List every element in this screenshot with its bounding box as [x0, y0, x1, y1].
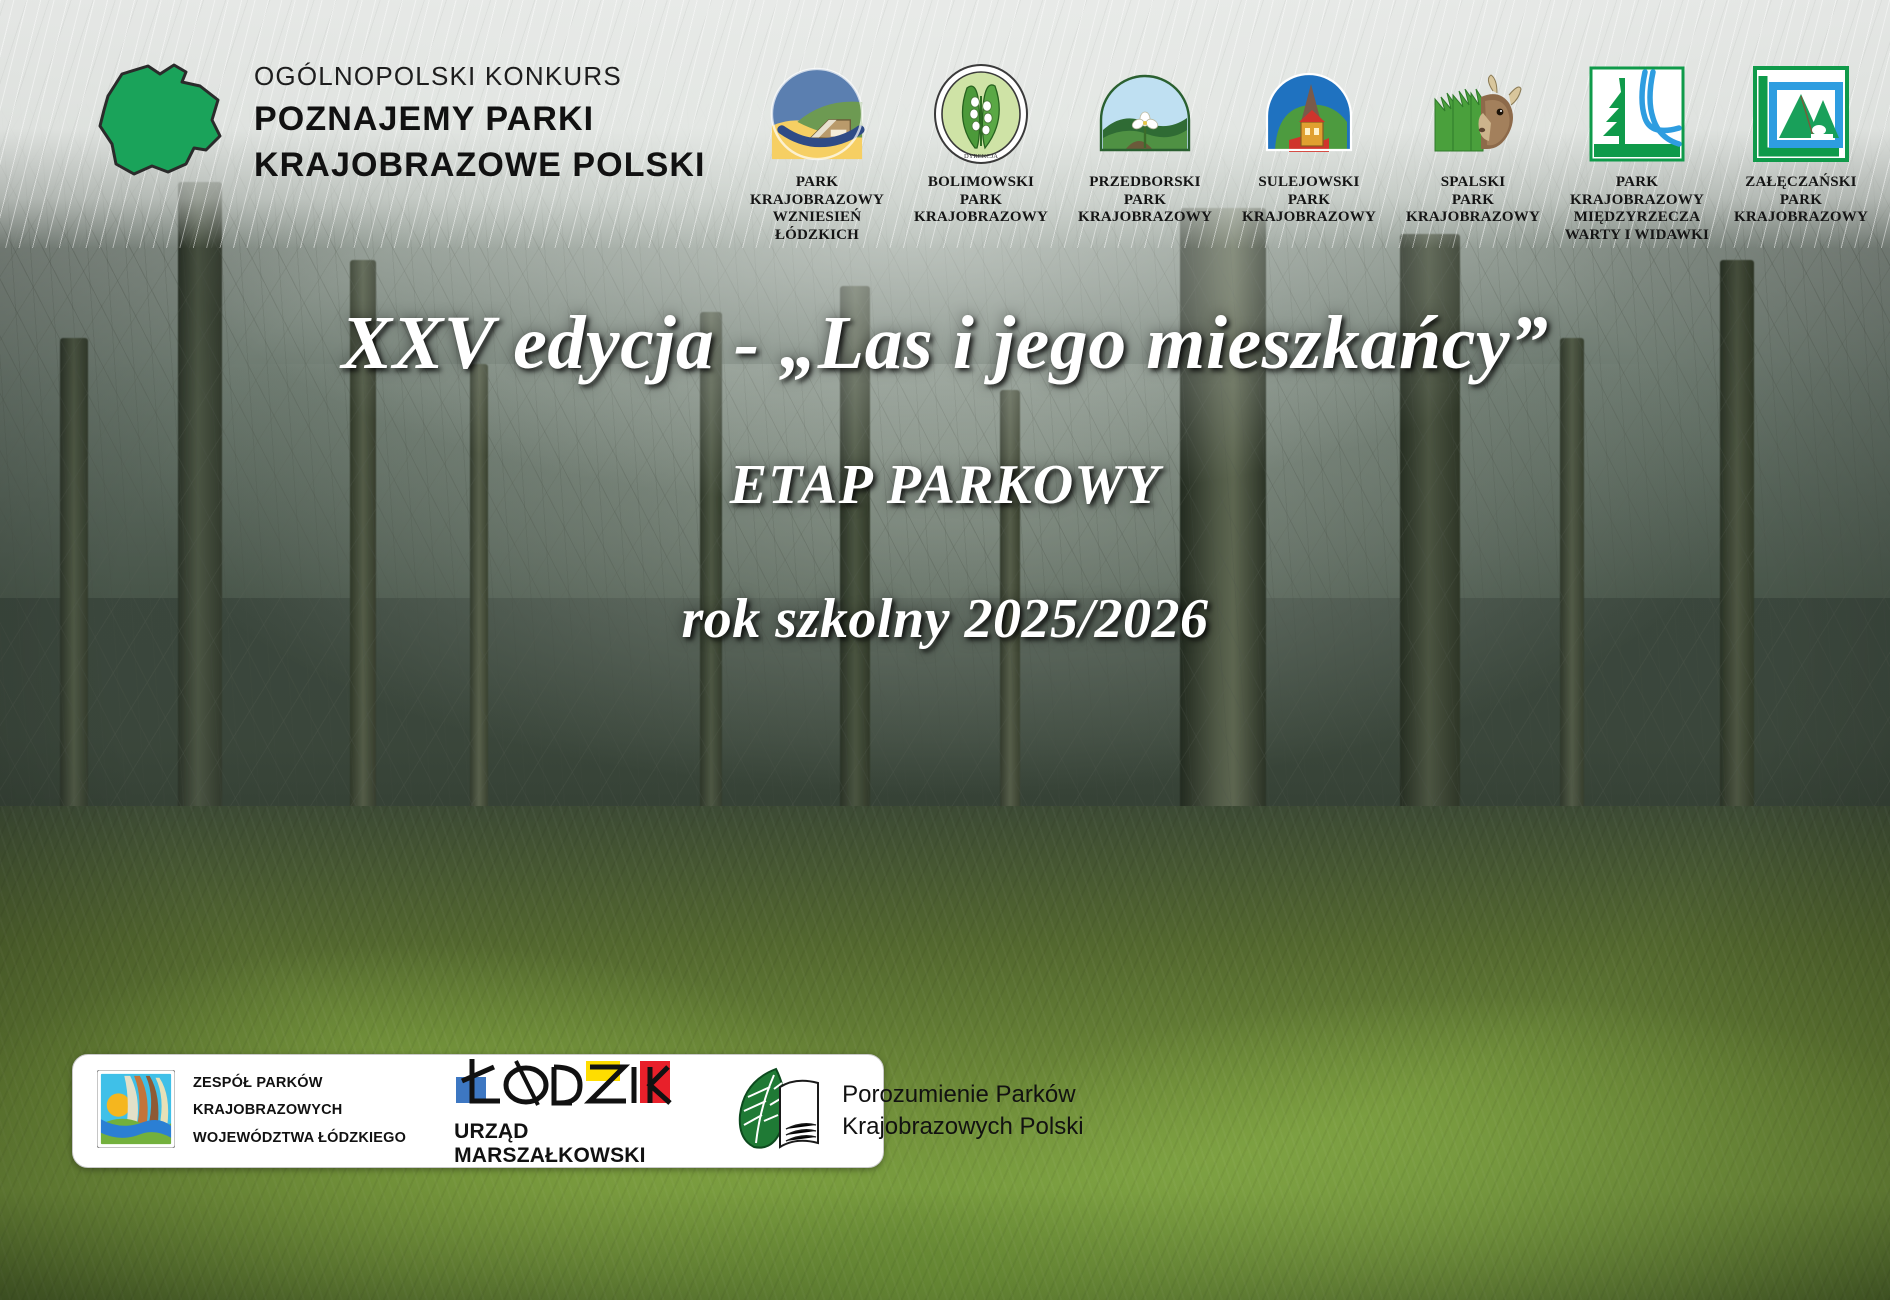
hills-in-frame-square-logo — [1753, 60, 1849, 168]
ppk-line-1: Porozumienie Parków — [842, 1079, 1083, 1111]
lily-of-the-valley-seal-logo: DYREKCJA — [931, 60, 1031, 168]
bison-and-firs-logo — [1421, 60, 1525, 168]
title-block: XXV edycja - „Las i jego mieszkańcy” ETA… — [0, 300, 1890, 651]
sponsor-logo-bar: ZESPÓŁ PARKÓW KRAJOBRAZOWYCH WOJEWÓDZTWA… — [72, 1054, 884, 1168]
ppk-text: Porozumienie Parków Krajobrazowych Polsk… — [842, 1079, 1083, 1142]
zpk-line-3: WOJEWÓDZTWA ŁÓDZKIEGO — [193, 1125, 406, 1153]
fir-and-rivers-square-logo — [1589, 60, 1685, 168]
contest-brand: OGÓLNOPOLSKI KONKURS POZNAJEMY PARKI KRA… — [82, 52, 706, 193]
ppk-logo-group: Porozumienie Parków Krajobrazowych Polsk… — [730, 1055, 1083, 1167]
leaf-and-book-logo — [730, 1063, 826, 1160]
park-logo-miedzyrzecza-warty-i-widawki: PARK KRAJOBRAZOWY MIĘDZYRZECZA WARTY I W… — [1555, 60, 1719, 245]
lodzkie-subtitle: URZĄD MARSZAŁKOWSKI — [454, 1120, 686, 1168]
school-year-title: rok szkolny 2025/2026 — [0, 587, 1890, 651]
brand-line-1: OGÓLNOPOLSKI KONKURS — [254, 63, 706, 89]
park-logo-sulejowski: SULEJOWSKI PARK KRAJOBRAZOWY — [1227, 60, 1391, 245]
park-logo-wzniesien-lodzkich: PARK KRAJOBRAZOWY WZNIESIEŃ ŁÓDZKICH — [735, 60, 899, 245]
church-tower-dome-logo — [1259, 60, 1359, 168]
park-caption: BOLIMOWSKI PARK KRAJOBRAZOWY — [914, 174, 1048, 227]
park-logo-spalski: SPALSKI PARK KRAJOBRAZOWY — [1391, 60, 1555, 245]
zpk-logo-group: ZESPÓŁ PARKÓW KRAJOBRAZOWYCH WOJEWÓDZTWA… — [97, 1055, 406, 1167]
header-band: OGÓLNOPOLSKI KONKURS POZNAJEMY PARKI KRA… — [0, 0, 1890, 248]
zpk-wojewodztwa-lodzkiego-logo — [97, 1070, 175, 1153]
ppk-line-2: Krajobrazowych Polski — [842, 1111, 1083, 1143]
park-caption: PARK KRAJOBRAZOWY WZNIESIEŃ ŁÓDZKICH — [735, 174, 899, 245]
zpk-line-1: ZESPÓŁ PARKÓW — [193, 1070, 406, 1098]
park-logo-zaleczanski: ZAŁĘCZAŃSKI PARK KRAJOBRAZOWY — [1719, 60, 1883, 245]
edition-title: XXV edycja - „Las i jego mieszkańcy” — [0, 300, 1890, 387]
forest-floor-moss — [0, 806, 1890, 1300]
lodzkie-logo-group: URZĄD MARSZAŁKOWSKI — [454, 1055, 686, 1167]
poland-map-icon — [82, 52, 228, 193]
park-caption: PRZEDBORSKI PARK KRAJOBRAZOWY — [1078, 174, 1212, 227]
seal-bottom-text: DYREKCJA — [964, 153, 998, 160]
brand-line-3: KRAJOBRAZOWE POLSKI — [254, 148, 706, 182]
park-logo-przedborski: PRZEDBORSKI PARK KRAJOBRAZOWY — [1063, 60, 1227, 245]
park-caption: SPALSKI PARK KRAJOBRAZOWY — [1406, 174, 1540, 227]
zpk-line-2: KRAJOBRAZOWYCH — [193, 1097, 406, 1125]
hills-flower-dome-logo — [1095, 60, 1195, 168]
park-logo-bolimowski: DYREKCJA BOLIMOWSKI PARK KRAJOBRAZOWY — [899, 60, 1063, 245]
park-caption: PARK KRAJOBRAZOWY MIĘDZYRZECZA WARTY I W… — [1555, 174, 1719, 245]
brand-line-2: POZNAJEMY PARKI — [254, 102, 706, 136]
circle-landscape-house-logo — [768, 60, 866, 168]
park-caption: SULEJOWSKI PARK KRAJOBRAZOWY — [1242, 174, 1376, 227]
park-caption: ZAŁĘCZAŃSKI PARK KRAJOBRAZOWY — [1734, 174, 1868, 227]
poster: OGÓLNOPOLSKI KONKURS POZNAJEMY PARKI KRA… — [0, 0, 1890, 1300]
park-logos-row: PARK KRAJOBRAZOWY WZNIESIEŃ ŁÓDZKICH — [735, 60, 1883, 245]
zpk-text: ZESPÓŁ PARKÓW KRAJOBRAZOWYCH WOJEWÓDZTWA… — [193, 1070, 406, 1153]
stage-title: ETAP PARKOWY — [0, 453, 1890, 517]
lodzkie-wordmark-logo — [454, 1055, 686, 1118]
